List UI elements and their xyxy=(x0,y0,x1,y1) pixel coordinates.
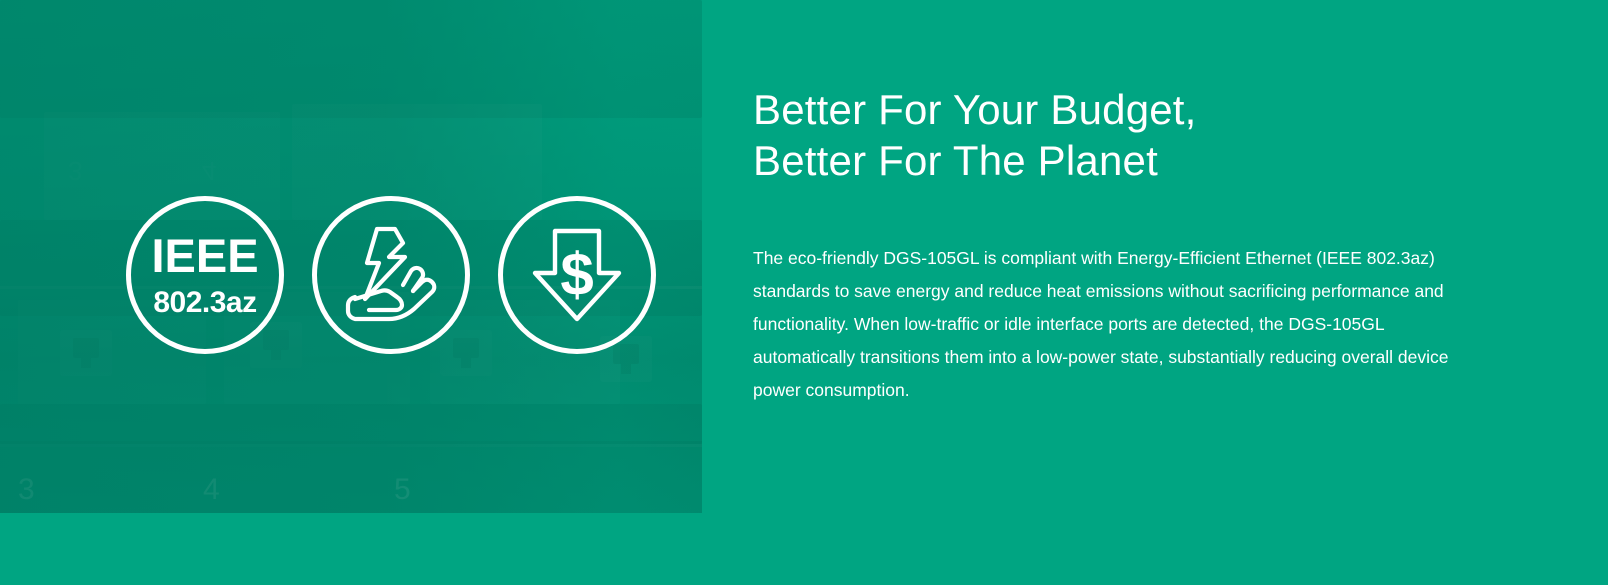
copy-block: Better For Your Budget, Better For The P… xyxy=(753,84,1493,407)
page-title: Better For Your Budget, Better For The P… xyxy=(753,84,1493,186)
dollar-down-arrow-glyph: $ xyxy=(519,217,635,333)
ieee-badge: IEEE 802.3az xyxy=(126,196,284,354)
ieee-badge-label: IEEE xyxy=(151,232,258,279)
hand-lightning-bolt-icon xyxy=(312,196,470,354)
ieee-badge-standard-label: 802.3az xyxy=(153,288,256,318)
eco-feature-banner: 3 4 3 4 5 IEEE 802.3az $ B xyxy=(0,0,1608,585)
dollar-down-arrow-icon: $ xyxy=(498,196,656,354)
hand-lightning-bolt-glyph xyxy=(335,219,447,331)
feature-icon-row: IEEE 802.3az $ xyxy=(126,196,656,354)
svg-text:$: $ xyxy=(560,241,593,308)
body-paragraph: The eco-friendly DGS-105GL is compliant … xyxy=(753,186,1483,407)
